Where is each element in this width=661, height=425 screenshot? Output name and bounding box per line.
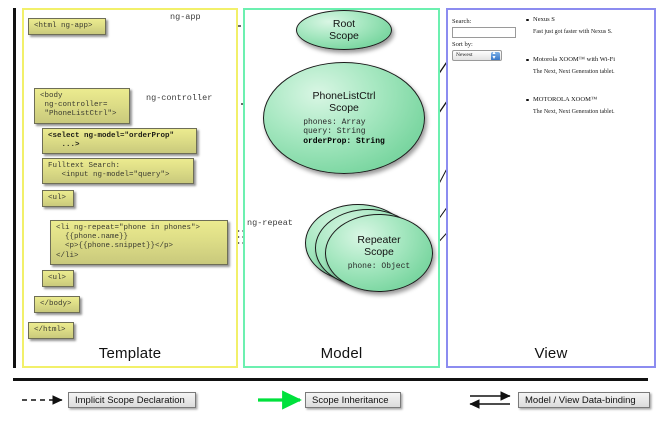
code-ul-open: <ul> — [42, 190, 74, 207]
phone-list-item: MOTOROLA XOOM™ The Next, Next Generation… — [526, 96, 650, 115]
phone-name[interactable]: MOTOROLA XOOM™ — [533, 96, 650, 103]
root-scope-title: Root Scope — [329, 18, 359, 42]
phonelistctrl-scope-title: PhoneListCtrl Scope — [312, 90, 375, 114]
prop-orderprop: orderProp: String — [303, 137, 385, 147]
phonelistctrl-scope-props: phones: Array query: String orderProp: S… — [303, 118, 385, 147]
phonelistctrl-title-line2: Scope — [329, 102, 359, 114]
code-body-close: </body> — [34, 296, 80, 313]
repeater-scope-props: phone: Object — [348, 262, 410, 272]
sort-by-label: Sort by: — [452, 41, 473, 48]
legend-divider — [13, 378, 648, 381]
code-li-ng-repeat: <li ng-repeat="phone in phones"> {{phone… — [50, 220, 228, 265]
panel-template-label: Template — [24, 345, 236, 362]
chevron-updown-icon — [491, 52, 500, 61]
legend-label: Model / View Data-binding — [525, 395, 636, 406]
bullet-icon — [526, 59, 529, 62]
phone-snippet: The Next, Next Generation tablet. — [533, 109, 650, 115]
legend-item-scope-inheritance: Scope Inheritance — [305, 392, 401, 408]
panel-model-label: Model — [245, 345, 438, 362]
legend-label: Scope Inheritance — [312, 395, 389, 406]
search-input[interactable] — [452, 27, 516, 38]
prop-phones: phones: Array — [303, 118, 385, 128]
root-scope-ellipse: Root Scope — [296, 10, 392, 50]
bullet-icon — [526, 19, 529, 22]
phone-name[interactable]: Nexus S — [533, 16, 650, 23]
code-html-close: </html> — [28, 322, 74, 339]
phone-snippet: The Next, Next Generation tablet. — [533, 69, 650, 75]
edge-label-ng-repeat: ng-repeat — [247, 218, 293, 228]
edge-label-ng-app: ng-app — [170, 12, 201, 22]
phone-name[interactable]: Motorola XOOM™ with Wi-Fi — [533, 56, 650, 63]
phone-list-item: Motorola XOOM™ with Wi-Fi The Next, Next… — [526, 56, 650, 75]
repeater-scope-title: Repeater Scope — [357, 234, 400, 258]
repeater-title-line1: Repeater — [357, 234, 400, 246]
code-select-tag: <select ng-model="orderProp" ...> — [42, 128, 197, 154]
code-search-input: Fulltext Search: <input ng-model="query"… — [42, 158, 194, 184]
code-html-tag: <html ng-app> — [28, 18, 106, 35]
code-body-tag: <body ng-controller= "PhoneListCtrl"> — [34, 88, 130, 124]
code-ul-close: <ul> — [42, 270, 74, 287]
search-label: Search: — [452, 18, 472, 25]
phone-list-item: Nexus S Fast just got faster with Nexus … — [526, 16, 650, 35]
prop-query: query: String — [303, 127, 385, 137]
repeater-scope-ellipse: Repeater Scope phone: Object — [325, 214, 433, 292]
view-browser-mock: Search: Sort by: Newest Nexus S Fast jus… — [452, 14, 650, 334]
diagram-root: Template <html ng-app> <body ng-controll… — [0, 0, 661, 425]
edge-label-ng-controller: ng-controller — [146, 93, 212, 103]
root-scope-title-line1: Root — [333, 18, 355, 30]
sort-by-selected-value: Newest — [456, 52, 473, 58]
panel-view-label: View — [448, 345, 654, 362]
legend-item-implicit-scope-declaration: Implicit Scope Declaration — [68, 392, 196, 408]
root-scope-title-line2: Scope — [329, 30, 359, 42]
prop-phone: phone: Object — [348, 262, 410, 272]
phonelistctrl-scope-ellipse: PhoneListCtrl Scope phones: Array query:… — [263, 62, 425, 174]
legend-item-model-view-data-binding: Model / View Data-binding — [518, 392, 650, 408]
panel-template: Template — [22, 8, 238, 368]
sort-by-select[interactable]: Newest — [452, 50, 502, 61]
legend-label: Implicit Scope Declaration — [75, 395, 185, 406]
repeater-title-line2: Scope — [364, 246, 394, 258]
bullet-icon — [526, 99, 529, 102]
phonelistctrl-title-line1: PhoneListCtrl — [312, 90, 375, 102]
phone-snippet: Fast just got faster with Nexus S. — [533, 29, 650, 35]
left-border-rule — [13, 8, 16, 368]
